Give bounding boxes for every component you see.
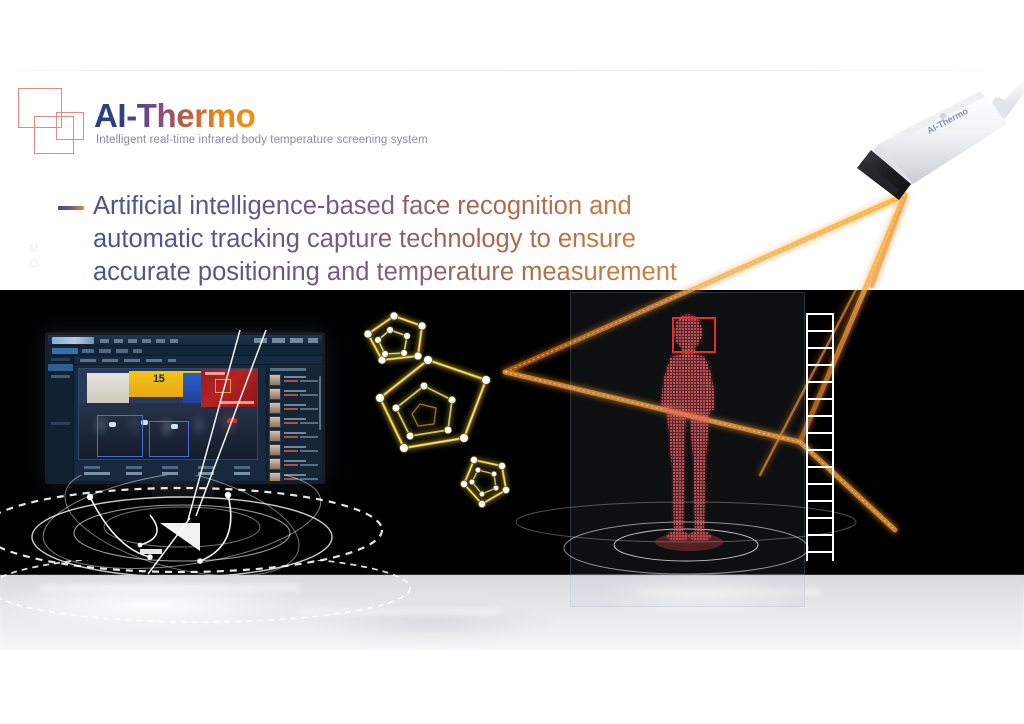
- bullet-ip-camera-icon: AI-Thermo: [855, 72, 1024, 204]
- header-divider: [0, 70, 1024, 71]
- dashboard-sidebar[interactable]: [48, 356, 74, 481]
- sidebar-item[interactable]: [51, 375, 70, 378]
- height-scale-ladder: [806, 313, 834, 561]
- floor-orbit-ring: [0, 560, 1024, 650]
- subject-glass-panel-foot: [570, 575, 805, 607]
- sidebar-item[interactable]: [51, 422, 70, 425]
- dashboard-tab-active[interactable]: [52, 348, 78, 354]
- dashboard-logo-icon: [52, 337, 94, 344]
- sidebar-item-selected[interactable]: [48, 364, 73, 371]
- dash-bullet-icon: [58, 206, 84, 210]
- brand-tagline: Intelligent real-time infrared body temp…: [96, 134, 428, 146]
- sidebar-item[interactable]: [51, 358, 70, 361]
- side-watermark: MO: [26, 243, 41, 273]
- hero-visual: 15: [0, 290, 1024, 575]
- brand-name: AI-Thermo: [94, 97, 255, 135]
- headline-text: Artificial intelligence-based face recog…: [93, 190, 733, 289]
- face-detect-box: [672, 317, 716, 353]
- slide-root: AI-Thermo Intelligent real-time infrared…: [0, 0, 1024, 724]
- overlapping-squares-logo-icon: [16, 86, 90, 156]
- tracking-beams: [120, 290, 480, 575]
- logo-square-medium: [34, 116, 74, 154]
